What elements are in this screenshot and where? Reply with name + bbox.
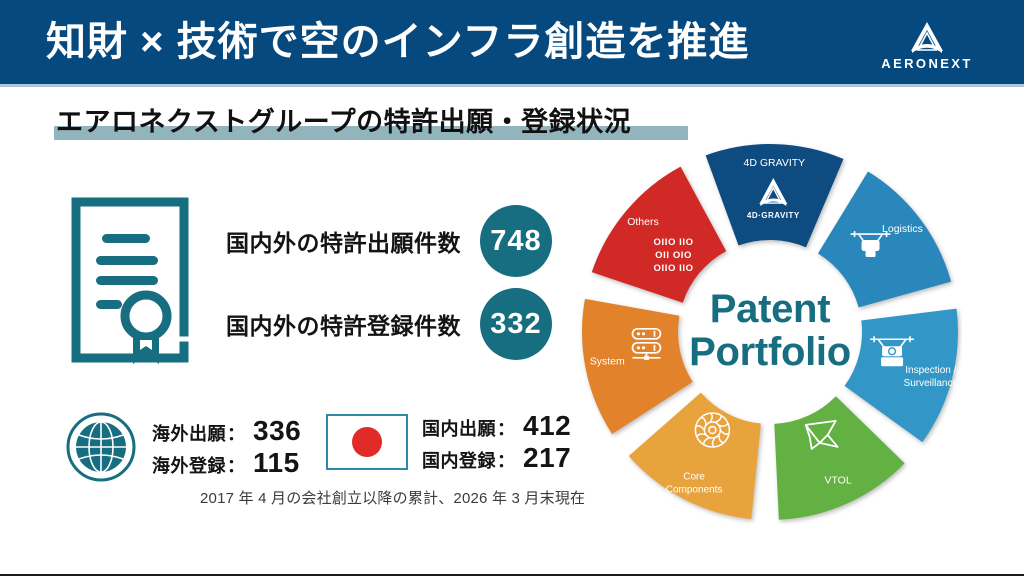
metric-name: 国内出願 — [422, 415, 496, 441]
stat-value-bubble: 748 — [480, 205, 552, 277]
metric-value: 115 — [253, 447, 300, 479]
metric-line: 海外登録 ： 115 — [152, 447, 301, 479]
footnote: 2017 年 4 月の会社創立以降の累計、2026 年 3 月末現在 — [200, 487, 585, 508]
donut-segment-core[interactable] — [629, 393, 761, 519]
donut-segment-label: Components — [666, 485, 723, 496]
binary-digits-icon: OIIO IIO — [653, 263, 693, 274]
japan-flag-icon — [326, 414, 408, 470]
page-title: 知財 × 技術で空のインフラ創造を推進 — [46, 17, 749, 67]
metric-colon: ： — [227, 420, 245, 446]
donut-segment-logistics[interactable] — [818, 172, 951, 308]
donut-segment-label: Core — [683, 472, 705, 483]
stat-value-bubble: 332 — [480, 288, 552, 360]
metric-line: 海外出願 ： 336 — [152, 415, 301, 447]
metric-value: 217 — [523, 442, 571, 474]
domestic-metrics: 国内出願 ： 412 国内登録 ： 217 — [326, 410, 571, 474]
donut-segment-label: 4D GRAVITY — [744, 157, 806, 169]
metric-value: 336 — [253, 415, 301, 447]
aeronext-logo: AERONEXT — [866, 20, 988, 72]
donut-segment-label: VTOL — [824, 474, 851, 486]
donut-segment-label: Logistics — [882, 223, 923, 235]
metric-colon: ： — [497, 447, 515, 473]
stat-value: 748 — [490, 225, 541, 258]
metric-name: 海外登録 — [152, 452, 226, 478]
stat-row-registrations: 国内外の特許登録件数 332 — [226, 288, 552, 360]
patent-certificate-icon — [70, 196, 190, 364]
slide: 知財 × 技術で空のインフラ創造を推進 AERONEXT エアロネクストグループ… — [0, 0, 1024, 576]
donut-segment-others[interactable] — [592, 167, 726, 303]
domestic-metric-lines: 国内出願 ： 412 国内登録 ： 217 — [422, 410, 571, 474]
donut-segment-label: Others — [627, 216, 659, 228]
metric-line: 国内出願 ： 412 — [422, 410, 571, 442]
stat-row-applications: 国内外の特許出願件数 748 — [226, 205, 552, 277]
svg-text:4D·GRAVITY: 4D·GRAVITY — [747, 211, 800, 220]
section-subtitle: エアロネクストグループの特許出願・登録状況 — [56, 100, 631, 139]
globe-icon — [64, 410, 138, 484]
metric-name: 国内登録 — [422, 447, 496, 473]
patent-portfolio-donut-chart: 4D·GRAVITY — [578, 140, 962, 524]
flag-dot — [352, 427, 382, 457]
overseas-metrics: 海外出願 ： 336 海外登録 ： 115 — [64, 410, 301, 484]
binary-digits-icon: OIIO IIO — [653, 237, 693, 248]
metric-colon: ： — [497, 415, 515, 441]
header-separator — [0, 84, 1024, 87]
donut-segment-label: Inspection / — [905, 365, 956, 376]
donut-segment-label: System — [590, 356, 625, 368]
donut-segment-label: Surveillance — [904, 378, 959, 389]
binary-digits-icon: OII OIO — [655, 250, 692, 261]
metric-colon: ： — [227, 452, 245, 478]
aeronext-wordmark: AERONEXT — [881, 56, 972, 71]
stat-value: 332 — [490, 308, 541, 341]
subtitle-text: エアロネクストグループの特許出願・登録状況 — [56, 100, 631, 139]
metric-name: 海外出願 — [152, 420, 226, 446]
metric-value: 412 — [523, 410, 571, 442]
overseas-metric-lines: 海外出願 ： 336 海外登録 ： 115 — [152, 415, 301, 479]
metric-line: 国内登録 ： 217 — [422, 442, 571, 474]
stat-label: 国内外の特許出願件数 — [226, 224, 461, 258]
aeronext-mark-icon — [907, 20, 947, 54]
stat-label: 国内外の特許登録件数 — [226, 307, 461, 341]
